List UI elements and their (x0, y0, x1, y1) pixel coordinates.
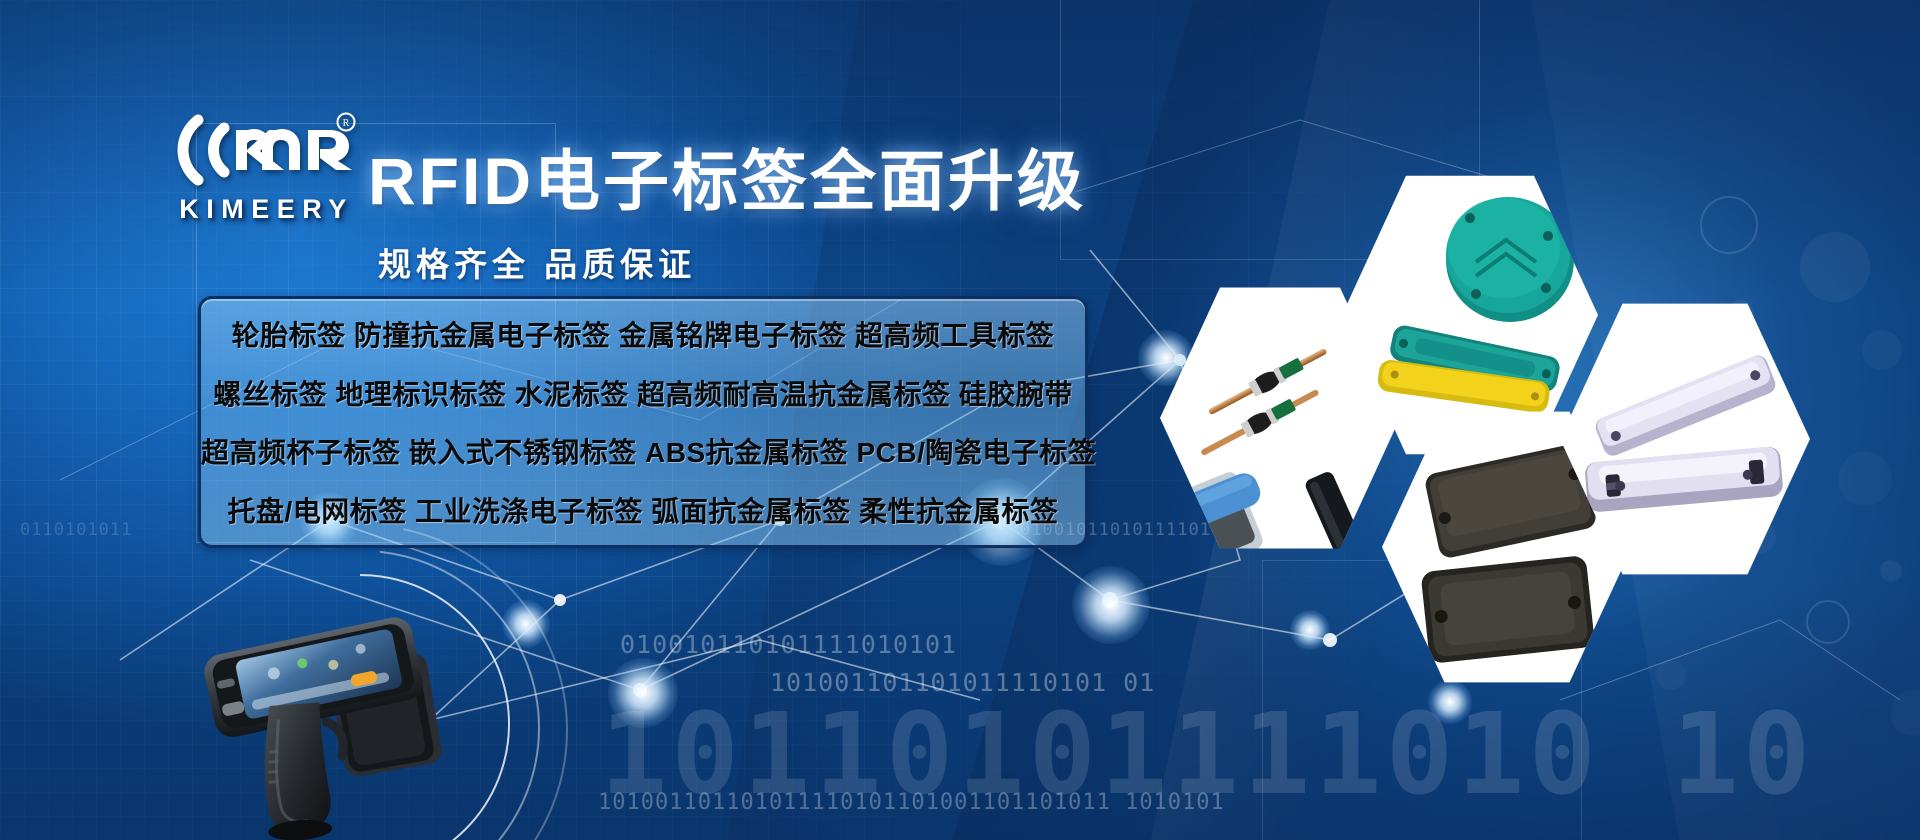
rfid-promo-banner: 010010110101111010101 101001101101011110… (0, 0, 1920, 840)
product-list-panel: 轮胎标签 防撞抗金属电子标签 金属铭牌电子标签 超高频工具标签 螺丝标签 地理标… (198, 296, 1088, 548)
binary-text: 010010110101111010101 (620, 630, 957, 659)
svg-text:R: R (343, 118, 350, 129)
product-list-row: 超高频杯子标签 嵌入式不锈钢标签 ABS抗金属标签 PCB/陶瓷电子标签 (201, 431, 1085, 471)
brand-wordmark: KIMEERY (168, 194, 358, 225)
kimeery-wave-logo-icon: R (168, 112, 358, 188)
registered-mark-icon: R (338, 114, 355, 131)
product-showcase (1160, 170, 1920, 690)
binary-text: 0110101011 (20, 520, 132, 540)
binary-text: 101001101101011110101101001101101011 101… (598, 790, 1225, 815)
brand-logo: R KIMEERY (168, 112, 358, 225)
page-title: RFID电子标签全面升级 (368, 128, 1086, 224)
product-list-row: 托盘/电网标签 工业洗涤电子标签 弧面抗金属标签 柔性抗金属标签 (201, 490, 1085, 530)
light-spark (1072, 566, 1150, 644)
handheld-rfid-reader (190, 600, 520, 840)
page-subtitle: 规格齐全 品质保证 (378, 238, 696, 286)
product-list-row: 轮胎标签 防撞抗金属电子标签 金属铭牌电子标签 超高频工具标签 (201, 314, 1085, 354)
product-list-row: 螺丝标签 地理标识标签 水泥标签 超高频耐高温抗金属标签 硅胶腕带 (201, 373, 1085, 413)
